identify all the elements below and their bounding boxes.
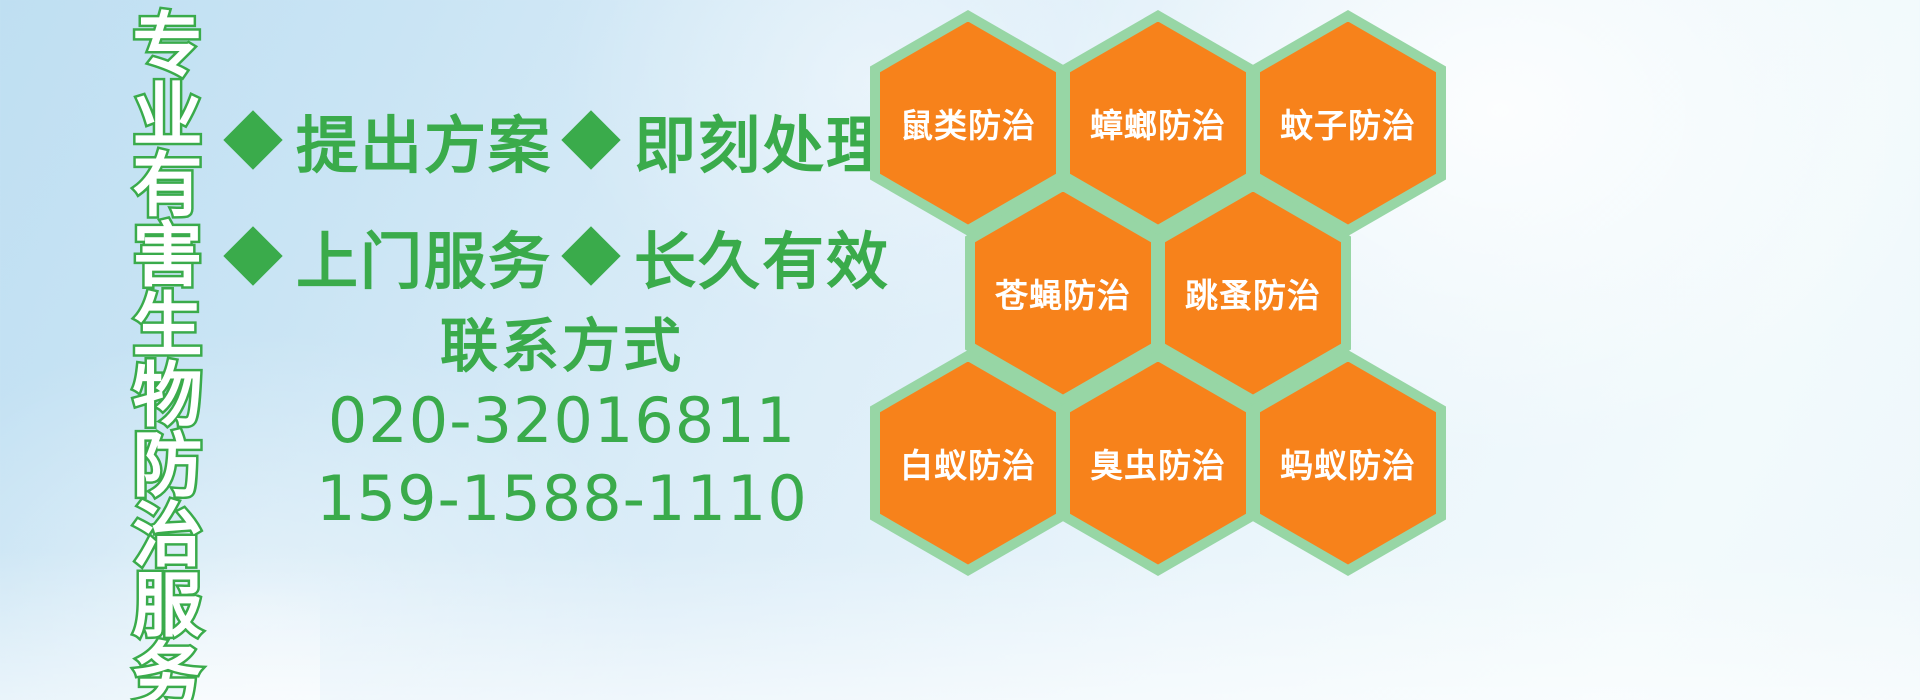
hex-inner: 白蚁防治 (880, 362, 1056, 565)
service-label: 蚊子防治 (1280, 99, 1416, 147)
service-label: 鼠类防治 (900, 99, 1036, 147)
service-label: 苍蝇防治 (995, 269, 1131, 317)
hex-inner: 臭虫防治 (1070, 362, 1246, 565)
diamond-bullet-icon (561, 110, 620, 169)
hex-inner: 蟑螂防治 (1070, 22, 1246, 225)
phone-landline[interactable]: 020-32016811 (232, 382, 892, 460)
slogan-row-2: 上门服务 长久有效 (232, 202, 872, 310)
service-label: 蚂蚁防治 (1280, 439, 1416, 487)
hex-inner: 蚊子防治 (1260, 22, 1436, 225)
slogan-row-1: 提出方案 即刻处理 (232, 86, 872, 194)
slogan-label: 长久有效 (634, 211, 890, 301)
contact-block: 联系方式 020-32016811 159-1588-1110 (232, 310, 892, 538)
hex-inner: 苍蝇防治 (975, 192, 1151, 395)
slogan-list: 提出方案 即刻处理 上门服务 长久有效 (232, 86, 872, 310)
background-bottom-haze (0, 550, 1920, 700)
hex-inner: 跳蚤防治 (1165, 192, 1341, 395)
background-stripe (190, 580, 320, 700)
contact-title: 联系方式 (232, 310, 892, 382)
hex-inner: 蚂蚁防治 (1260, 362, 1436, 565)
service-label: 蟑螂防治 (1090, 99, 1226, 147)
diamond-bullet-icon (223, 110, 282, 169)
service-honeycomb: 鼠类防治 蟑螂防治 蚊子防治 苍蝇防治 跳蚤防治 白蚁防治 臭虫防治 蚂蚁防治 (862, 0, 1462, 560)
vertical-headline: 专业有害生物防治服务 (108, 8, 196, 700)
diamond-bullet-icon (561, 226, 620, 285)
service-label: 白蚁防治 (900, 439, 1036, 487)
hex-inner: 鼠类防治 (880, 22, 1056, 225)
phone-mobile[interactable]: 159-1588-1110 (232, 460, 892, 538)
service-label: 跳蚤防治 (1185, 269, 1321, 317)
diamond-bullet-icon (223, 226, 282, 285)
slogan-label: 即刻处理 (634, 95, 890, 185)
slogan-label: 提出方案 (296, 95, 552, 185)
service-label: 臭虫防治 (1090, 439, 1226, 487)
slogan-label: 上门服务 (296, 211, 552, 301)
